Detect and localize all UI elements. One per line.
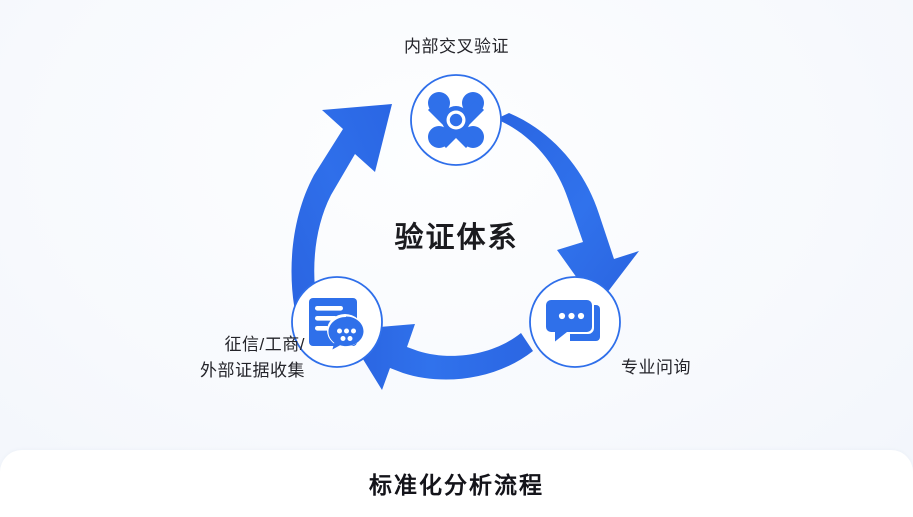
- node-label-line-2: 外部证据收集: [200, 358, 305, 384]
- node-external-evidence-collection[interactable]: [292, 277, 382, 367]
- footer-panel: 标准化分析流程: [0, 450, 913, 517]
- footer-title: 标准化分析流程: [369, 474, 544, 497]
- document-chat-icon: [309, 298, 364, 349]
- node-professional-inquiry[interactable]: [530, 277, 620, 367]
- slide-root: 验证体系 内部交叉验证 专业问询 征信/工商/ 外部证据收集 标准化分析流程: [0, 0, 913, 517]
- cycle-diagram: 验证体系 内部交叉验证 专业问询 征信/工商/ 外部证据收集: [0, 0, 913, 450]
- node-label-internal-cross-validation: 内部交叉验证: [0, 34, 913, 60]
- node-label-line-1: 征信/工商/: [200, 332, 305, 358]
- node-label-professional-inquiry: 专业问询: [621, 355, 691, 381]
- node-label-external-evidence-collection: 征信/工商/ 外部证据收集: [200, 332, 305, 384]
- node-internal-cross-validation[interactable]: [411, 75, 501, 165]
- cycle-center-caption: 验证体系: [0, 224, 913, 253]
